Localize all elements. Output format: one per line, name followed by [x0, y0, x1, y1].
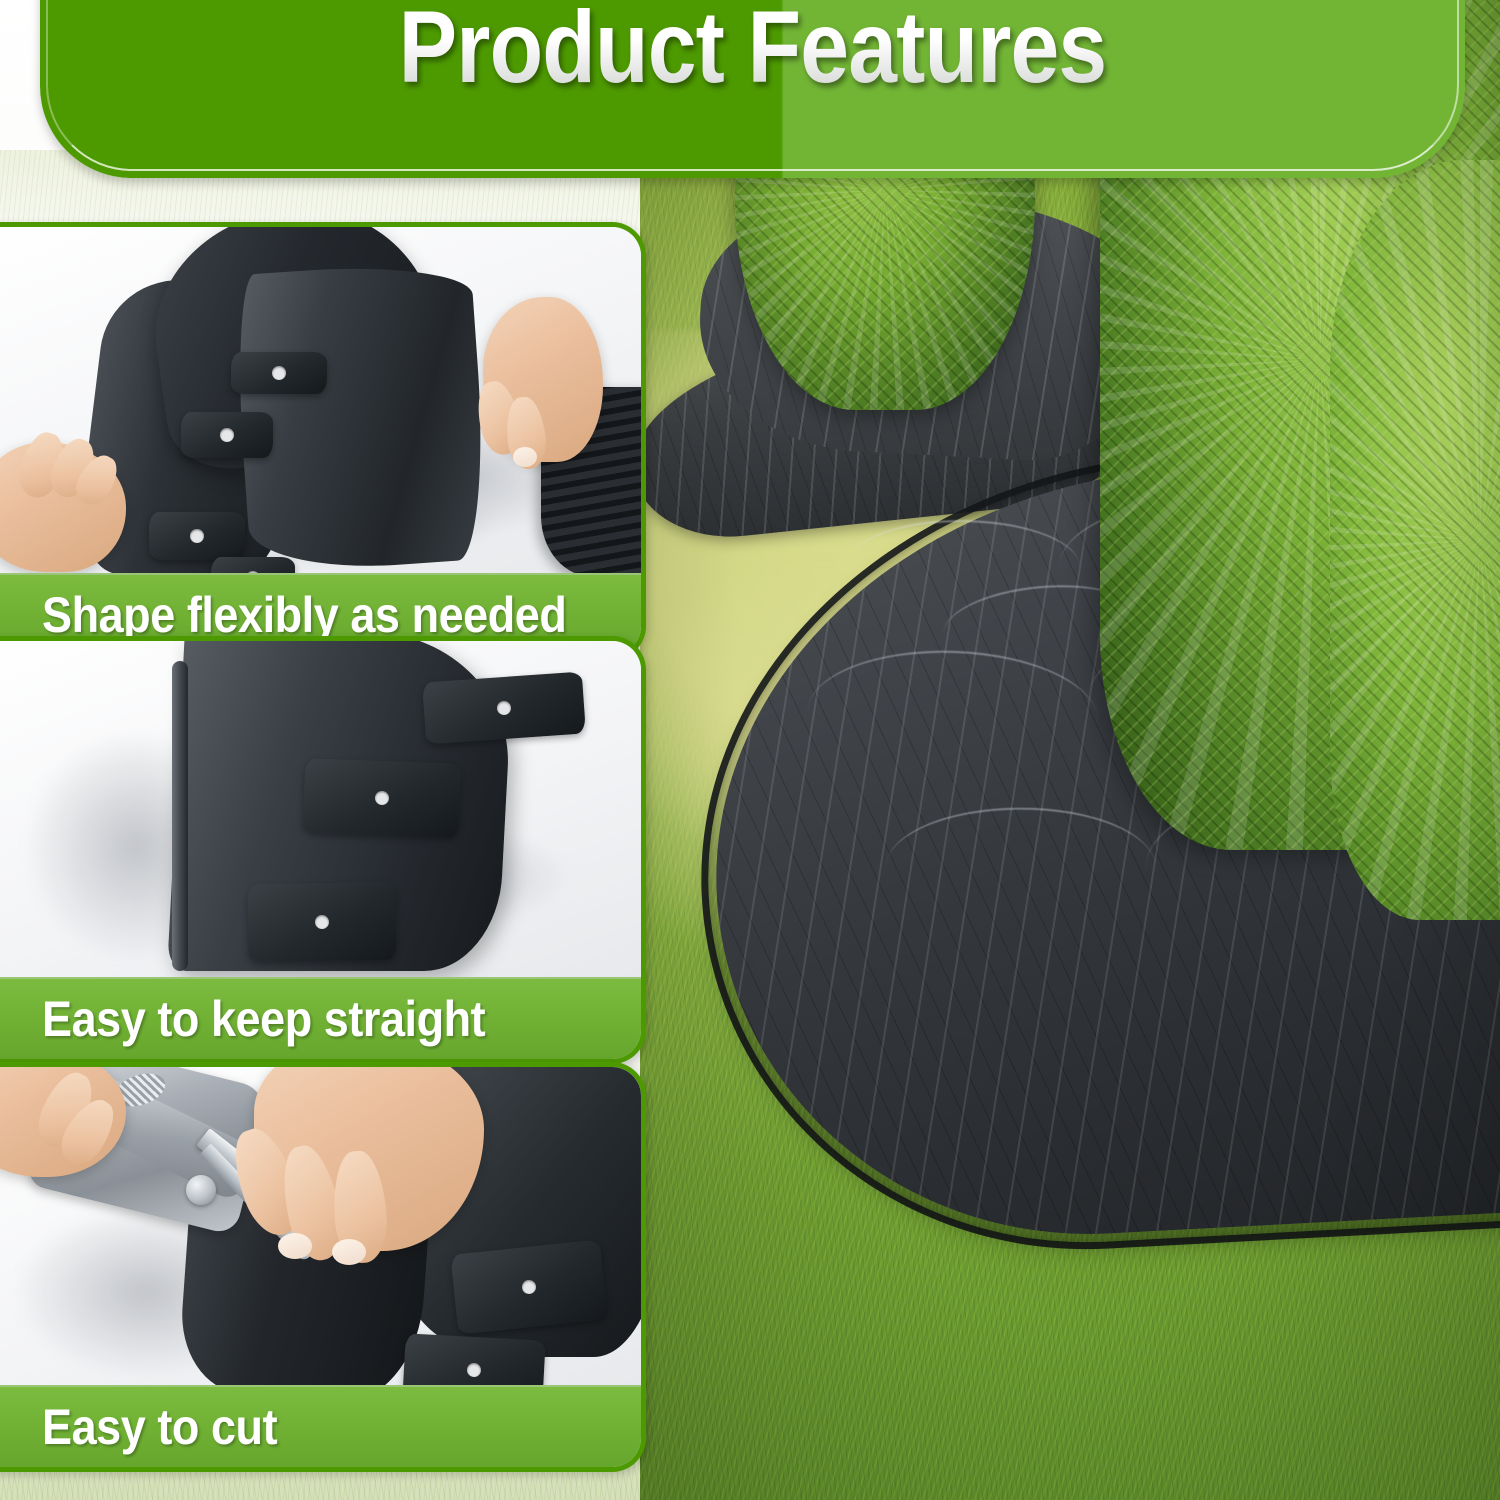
anchor-stake	[211, 557, 295, 573]
edging-strip-top-lip	[172, 661, 188, 971]
feature-card-easy-to-cut: Easy to cut	[0, 1062, 646, 1472]
fabric-crease	[886, 808, 1156, 928]
header-banner: Product Features	[40, 0, 1465, 178]
feature-caption-band-2: Easy to keep straight	[0, 977, 641, 1059]
feature-card-keep-straight: Easy to keep straight	[0, 636, 646, 1064]
feature-photo-easy-to-cut	[0, 1067, 641, 1385]
fingernail	[278, 1233, 312, 1259]
anchor-stake	[303, 758, 461, 837]
infographic-root: Product Features	[0, 0, 1500, 1500]
feature-photo-keep-straight	[0, 641, 641, 977]
hero-garden-photo	[640, 0, 1500, 1500]
right-hand	[483, 297, 603, 462]
anchor-stake	[450, 1239, 608, 1334]
feature-caption-text-3: Easy to cut	[42, 1398, 277, 1456]
anchor-stake	[149, 512, 245, 560]
feature-card-shape-flexibly: Shape flexibly as needed	[0, 222, 646, 660]
feature-caption-text-2: Easy to keep straight	[42, 990, 485, 1048]
feature-caption-band-3: Easy to cut	[0, 1385, 641, 1467]
fingernail	[332, 1239, 366, 1265]
snips-pivot-bolt	[186, 1175, 216, 1205]
anchor-stake	[181, 412, 273, 458]
fabric-crease	[806, 646, 1100, 786]
anchor-stake	[247, 882, 396, 963]
left-hand	[0, 442, 126, 572]
anchor-stake	[422, 671, 586, 744]
page-title: Product Features	[140, 0, 1366, 98]
anchor-stake	[231, 352, 327, 394]
feature-photo-shape-flexibly	[0, 227, 641, 573]
fingernail	[513, 447, 537, 467]
anchor-stake	[402, 1333, 545, 1385]
conifer-shrub-right	[1330, 160, 1500, 920]
